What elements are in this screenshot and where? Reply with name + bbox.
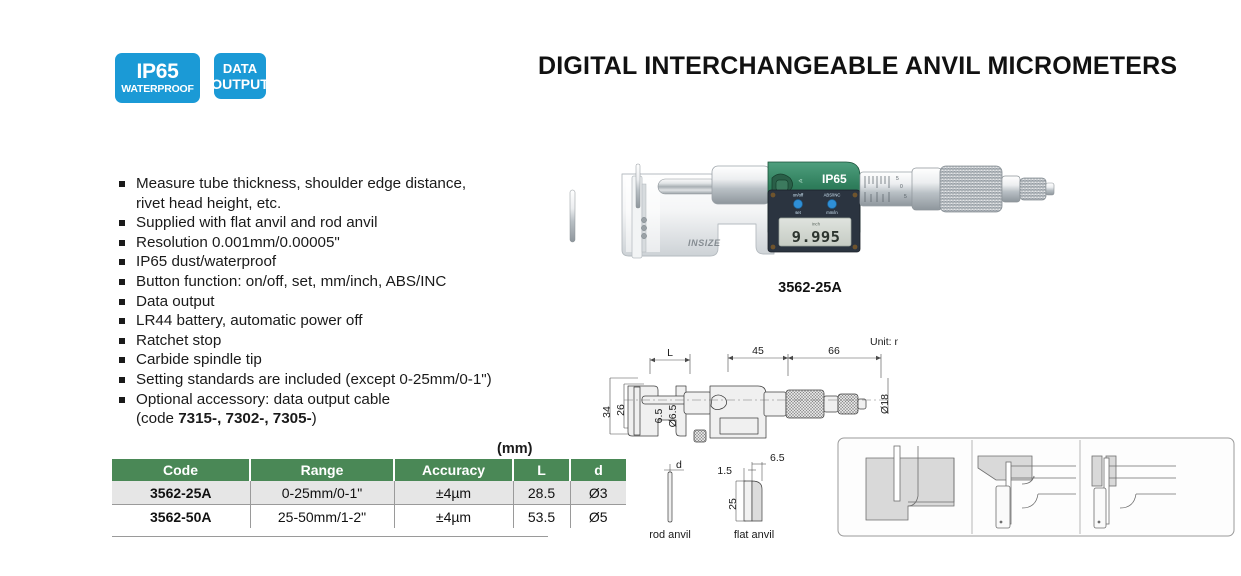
- svg-text:INSIZE: INSIZE: [688, 238, 721, 248]
- list-item: LR44 battery, automatic power off: [118, 311, 548, 331]
- feature-text: Resolution 0.001mm/0.00005": [136, 234, 340, 251]
- list-item: Setting standards are included (except 0…: [118, 370, 548, 390]
- bullet-square-icon: [119, 259, 125, 265]
- on-off-set-button: [794, 200, 803, 209]
- list-item: Button function: on/off, set, mm/inch, A…: [118, 272, 548, 292]
- rod-anvil-dim-d: d: [676, 459, 682, 471]
- table-bottom-rule: [112, 536, 548, 537]
- anvil-detail-drawings: d rod anvil 1.5 6.5 25 f: [640, 448, 840, 543]
- list-item: Resolution 0.001mm/0.00005": [118, 233, 548, 253]
- table-row: 3562-50A 25-50mm/1-2" ±4µm 53.5 Ø5: [112, 505, 626, 529]
- feature-list: Measure tube thickness, shoulder edge di…: [118, 174, 548, 429]
- cell-range: 25-50mm/1-2": [250, 505, 394, 529]
- list-item: Carbide spindle tip: [118, 350, 548, 370]
- list-item: Data output: [118, 292, 548, 312]
- svg-text:5: 5: [904, 194, 907, 200]
- bullet-square-icon: [119, 220, 125, 226]
- dim-L: L: [667, 347, 673, 359]
- bullet-square-icon: [119, 299, 125, 305]
- abs-inc-mm-in-button: [828, 200, 837, 209]
- cell-range: 0-25mm/0-1": [250, 481, 394, 505]
- table-row: 3562-25A 0-25mm/0-1" ±4µm 28.5 Ø3: [112, 481, 626, 505]
- list-item: Measure tube thickness, shoulder edge di…: [118, 174, 548, 213]
- feature-text: Carbide spindle tip: [136, 351, 262, 368]
- code-suffix: ): [312, 410, 317, 427]
- product-model-label: 3562-25A: [560, 280, 1060, 296]
- cell-code: 3562-25A: [112, 481, 250, 505]
- svg-text:ABS/INC: ABS/INC: [824, 193, 841, 198]
- table-header-row: Code Range Accuracy L d: [112, 459, 626, 481]
- feature-text: Data output: [136, 293, 215, 310]
- cell-accuracy: ±4µm: [394, 505, 513, 529]
- bullet-square-icon: [119, 357, 125, 363]
- dim-66: 66: [828, 345, 840, 357]
- ip65-badge-line2: WATERPROOF: [121, 84, 193, 95]
- bullet-square-icon: [119, 377, 125, 383]
- flat-anvil-dim-6-5: 6.5: [770, 452, 785, 464]
- data-badge-line2: OUTPUT: [211, 77, 269, 91]
- svg-text:∢: ∢: [798, 179, 803, 185]
- feature-text: Ratchet stop: [136, 332, 221, 349]
- brand-logo: INSIZE: [688, 238, 721, 248]
- dim-6-5: 6.5: [653, 409, 665, 424]
- feature-text-continued: (code 7315-, 7302-, 7305-): [136, 409, 548, 429]
- feature-text: Setting standards are included (except 0…: [136, 371, 492, 388]
- data-output-badge: DATA OUTPUT: [214, 53, 266, 99]
- application-illustration: [836, 436, 1236, 541]
- cell-d: Ø3: [570, 481, 626, 505]
- cell-l: 53.5: [513, 505, 570, 529]
- list-item: Supplied with flat anvil and rod anvil: [118, 213, 548, 233]
- svg-text:on/off: on/off: [793, 193, 804, 198]
- accessory-codes: 7315-, 7302-, 7305-: [178, 410, 311, 427]
- page-title: DIGITAL INTERCHANGEABLE ANVIL MICROMETER…: [538, 52, 1177, 81]
- ip65-waterproof-badge: IP65 WATERPROOF: [115, 53, 200, 103]
- cell-d: Ø5: [570, 505, 626, 529]
- bullet-square-icon: [119, 338, 125, 344]
- column-header-code: Code: [112, 459, 250, 481]
- feature-text: Optional accessory: data output cable: [136, 391, 390, 408]
- dim-26: 26: [615, 404, 627, 416]
- feature-text: IP65 dust/waterproof: [136, 253, 276, 270]
- bullet-square-icon: [119, 181, 125, 187]
- dim-34: 34: [601, 406, 613, 418]
- list-item: Optional accessory: data output cable (c…: [118, 390, 548, 429]
- list-item: IP65 dust/waterproof: [118, 252, 548, 272]
- dim-45: 45: [752, 345, 764, 357]
- flat-anvil-label: flat anvil: [734, 529, 774, 541]
- cell-code: 3562-50A: [112, 505, 250, 529]
- drawing-unit-note: Unit: mm: [870, 336, 898, 348]
- dim-dia-18: Ø18: [879, 394, 891, 414]
- feature-text: LR44 battery, automatic power off: [136, 312, 363, 329]
- bullet-square-icon: [119, 279, 125, 285]
- catalog-page: IP65 WATERPROOF DATA OUTPUT DIGITAL INTE…: [0, 0, 1241, 576]
- code-prefix: (code: [136, 410, 178, 427]
- bullet-square-icon: [119, 318, 125, 324]
- feature-text: Button function: on/off, set, mm/inch, A…: [136, 273, 446, 290]
- data-badge-line1: DATA: [223, 62, 257, 75]
- rod-anvil-label: rod anvil: [649, 529, 691, 541]
- dimension-drawing: Unit: mm L 45 66 34 26 6.5 Ø6.5 Ø18: [598, 334, 898, 444]
- svg-text:0: 0: [900, 184, 903, 190]
- svg-text:5: 5: [896, 176, 899, 182]
- column-header-range: Range: [250, 459, 394, 481]
- lcd-value: 9.995: [792, 228, 841, 246]
- feature-text: Measure tube thickness, shoulder edge di…: [136, 175, 466, 192]
- bullet-square-icon: [119, 240, 125, 246]
- column-header-l: L: [513, 459, 570, 481]
- bullet-square-icon: [119, 397, 125, 403]
- svg-text:mm/in: mm/in: [826, 210, 838, 215]
- flat-anvil-dim-1-5: 1.5: [717, 465, 732, 477]
- table-unit-note: (mm): [497, 441, 532, 457]
- feature-text: Supplied with flat anvil and rod anvil: [136, 214, 377, 231]
- cell-accuracy: ±4µm: [394, 481, 513, 505]
- dim-dia-6-5: Ø6.5: [667, 404, 679, 427]
- flat-anvil-dim-25: 25: [727, 498, 739, 510]
- ip65-badge-line1: IP65: [137, 61, 179, 82]
- list-item: Ratchet stop: [118, 331, 548, 351]
- column-header-accuracy: Accuracy: [394, 459, 513, 481]
- feature-text-continued: rivet head height, etc.: [136, 194, 548, 214]
- cell-l: 28.5: [513, 481, 570, 505]
- svg-text:inch: inch: [812, 222, 821, 227]
- specification-table: Code Range Accuracy L d 3562-25A 0-25mm/…: [112, 459, 626, 528]
- svg-text:set: set: [795, 210, 801, 215]
- product-photo: INSIZE ∢ IP65 on/off: [560, 128, 1060, 273]
- feature-badges: IP65 WATERPROOF DATA OUTPUT: [115, 53, 266, 103]
- column-header-d: d: [570, 459, 626, 481]
- ip65-mark-on-product: IP65: [822, 172, 847, 186]
